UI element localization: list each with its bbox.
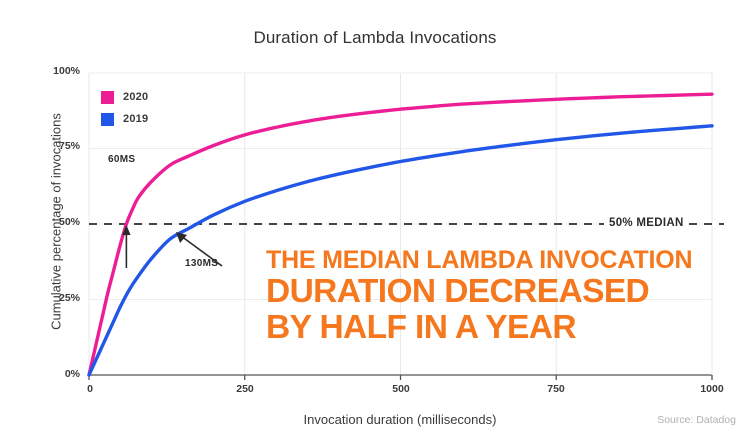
chart-figure: Duration of Lambda Invocations Cumulativ… <box>0 0 750 446</box>
legend-swatch-2020 <box>101 91 114 104</box>
median-line-label: 50% MEDIAN <box>604 216 689 230</box>
legend-item-2020: 2020 <box>101 88 148 106</box>
callout-line-3: BY HALF IN A YEAR <box>266 311 692 345</box>
legend-item-2019: 2019 <box>101 110 148 128</box>
callout-line-2: DURATION DECREASED <box>266 275 692 309</box>
callout-text: THE MEDIAN LAMBDA INVOCATION DURATION DE… <box>266 248 692 344</box>
legend-swatch-2019 <box>101 113 114 126</box>
annotation-label-60ms: 60MS <box>108 154 135 165</box>
callout-line-1: THE MEDIAN LAMBDA INVOCATION <box>266 248 692 273</box>
legend-label-2020: 2020 <box>123 91 148 103</box>
annotation-label-130ms: 130MS <box>185 258 218 269</box>
chart-legend: 2020 2019 <box>101 88 148 132</box>
legend-label-2019: 2019 <box>123 113 148 125</box>
